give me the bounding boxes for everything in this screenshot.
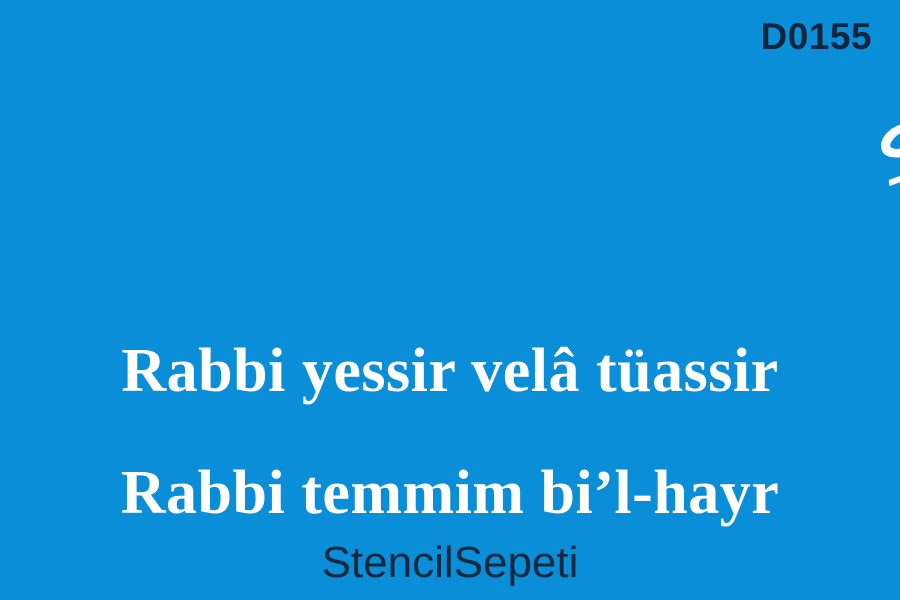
transliteration-line-2: Rabbi temmim bi’l-hayr (0, 462, 900, 524)
arabic-calligraphy-artwork: رَبِّ يَسِّرْ وَلَا تُعَسِّرْ رَبِّ تَمِ… (0, 86, 900, 291)
stencil-design-canvas: D0155 رَبِّ يَسِّرْ وَلَا تُعَسِّرْ رَبِ… (0, 0, 900, 600)
brand-watermark: StencilSepeti (0, 540, 900, 586)
arabic-calligraphy-text: رَبِّ يَسِّرْ وَلَا تُعَسِّرْ رَبِّ تَمِ… (860, 86, 900, 207)
transliteration-line-1: Rabbi yessir velâ tüassir (0, 340, 900, 402)
arabic-calligraphy-svg: رَبِّ يَسِّرْ وَلَا تُعَسِّرْ رَبِّ تَمِ… (0, 86, 900, 291)
product-code-label: D0155 (760, 18, 872, 55)
